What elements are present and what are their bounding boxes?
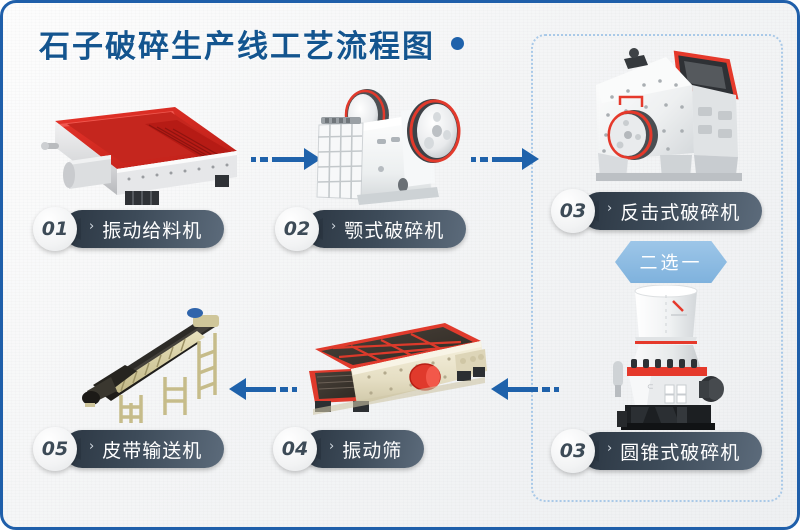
step-label-02[interactable]: › 颚式破碎机 [305, 210, 466, 248]
vibrating-feeder-icon [25, 91, 255, 211]
stage-impact-crusher [568, 45, 763, 195]
chevron-right-icon: › [331, 219, 337, 234]
bullet-dot-icon [451, 37, 464, 50]
label-group-03-cone[interactable]: 03 › 圆锥式破碎机 [551, 429, 762, 473]
step-label-03-cone[interactable]: › 圆锥式破碎机 [581, 432, 762, 470]
step-label-text-04: 振动筛 [342, 436, 402, 463]
arrow-dash [292, 387, 297, 392]
chevron-right-icon: › [329, 439, 335, 454]
step-label-text-01: 振动给料机 [102, 216, 202, 243]
chevron-right-icon: › [607, 201, 613, 216]
flowchart-canvas: 石子破碎生产线工艺流程图 [0, 0, 800, 530]
either-or-selector: 二选一 [615, 241, 727, 283]
step-number-05: 05 [33, 427, 77, 471]
label-group-05[interactable]: 05 › 皮带输送机 [33, 427, 224, 471]
step-label-text-03-cone: 圆锥式破碎机 [620, 438, 740, 465]
arrow-dash [542, 387, 550, 392]
arrow-shaft [272, 157, 304, 162]
page-title-text: 石子破碎生产线工艺流程图 [39, 21, 435, 66]
arrow-dash [480, 157, 488, 162]
stage-jaw-crusher [305, 73, 485, 213]
either-or-label: 二选一 [640, 249, 703, 275]
stage-vibrating-feeder [25, 91, 255, 211]
page-title: 石子破碎生产线工艺流程图 [39, 21, 464, 66]
step-label-03-impact[interactable]: › 反击式破碎机 [581, 192, 762, 230]
arrow-dash [260, 157, 268, 162]
step-label-05[interactable]: › 皮带输送机 [63, 430, 224, 468]
step-label-text-02: 颚式破碎机 [344, 216, 444, 243]
arrow-dashes [251, 157, 268, 162]
stage-cone-crusher: ⊂ [591, 285, 741, 435]
chevron-right-icon: › [89, 219, 95, 234]
arrow-dash [471, 157, 476, 162]
arrow-dashes [542, 387, 559, 392]
chevron-right-icon: › [607, 441, 613, 456]
jaw-crusher-icon [305, 73, 485, 213]
belt-conveyor-icon [65, 299, 285, 434]
arrow-shaft [508, 387, 538, 392]
stage-belt-conveyor [65, 299, 285, 434]
svg-text:⊂: ⊂ [647, 382, 654, 391]
label-group-01[interactable]: 01 › 振动给料机 [33, 207, 224, 251]
step-number-02: 02 [275, 207, 319, 251]
step-label-text-03-impact: 反击式破碎机 [620, 198, 740, 225]
step-number-03-cone: 03 [551, 429, 595, 473]
cone-crusher-icon: ⊂ [591, 285, 741, 435]
arrow-dash [251, 157, 256, 162]
label-group-02[interactable]: 02 › 颚式破碎机 [275, 207, 466, 251]
arrow-dash [554, 387, 559, 392]
vibrating-screen-icon [295, 315, 495, 435]
step-number-04: 04 [273, 427, 317, 471]
arrow-head [522, 148, 539, 170]
arrow-shaft [492, 157, 522, 162]
step-number-03-impact: 03 [551, 189, 595, 233]
chevron-right-icon: › [89, 439, 95, 454]
stage-vibrating-screen [295, 315, 495, 435]
label-group-04[interactable]: 04 › 振动筛 [273, 427, 424, 471]
step-label-01[interactable]: › 振动给料机 [63, 210, 224, 248]
arrow-jaw-to-impact [471, 148, 539, 170]
impact-crusher-icon [568, 45, 763, 195]
step-label-04[interactable]: › 振动筛 [303, 430, 424, 468]
arrow-cone-to-screen [491, 378, 559, 400]
step-label-text-05: 皮带输送机 [102, 436, 202, 463]
label-group-03-impact[interactable]: 03 › 反击式破碎机 [551, 189, 762, 233]
step-number-01: 01 [33, 207, 77, 251]
arrow-dashes [471, 157, 488, 162]
